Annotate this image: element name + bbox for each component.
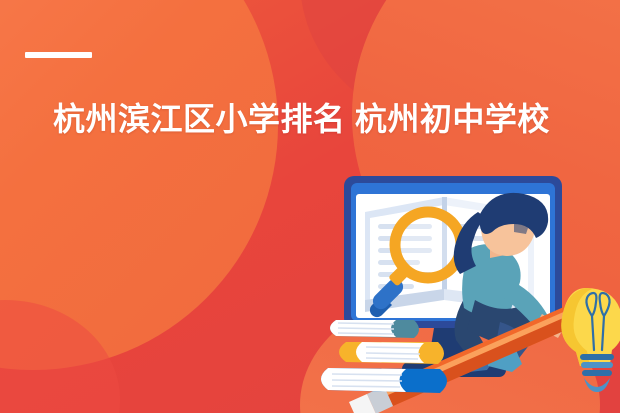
accent-dash	[25, 52, 92, 58]
page-title: 杭州滨江区小学排名 杭州初中学校	[53, 99, 583, 139]
article-cover-banner: 杭州滨江区小学排名 杭州初中学校	[0, 0, 620, 413]
student-research-illustration	[318, 172, 620, 413]
book-stack-icon	[321, 320, 447, 393]
lightbulb-icon	[561, 288, 620, 392]
